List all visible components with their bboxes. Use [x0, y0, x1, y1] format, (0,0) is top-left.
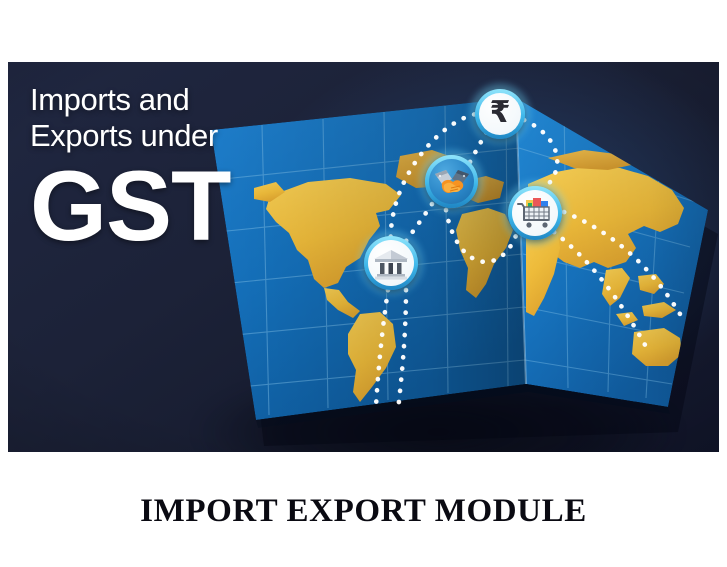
- handshake-icon: [425, 155, 478, 208]
- bank-icon: [364, 236, 418, 290]
- rupee-icon: ₹: [475, 89, 525, 139]
- headline-gst: GST: [30, 158, 231, 254]
- headline-line-1: Imports and: [30, 82, 231, 118]
- page-title: IMPORT EXPORT MODULE: [0, 493, 727, 530]
- rupee-icon-node: ₹: [475, 89, 525, 139]
- bank-icon-node: [364, 236, 418, 290]
- shopping-cart-icon: [508, 186, 562, 240]
- headline-line-2: Exports under: [30, 118, 231, 154]
- cart-icon-node: [508, 186, 562, 240]
- rupee-symbol: ₹: [490, 98, 511, 128]
- page-root: Imports and Exports under GST ₹: [0, 0, 727, 567]
- handshake-icon-node: [425, 155, 478, 208]
- banner-headline: Imports and Exports under GST: [30, 82, 231, 254]
- hero-banner: Imports and Exports under GST ₹: [8, 62, 719, 452]
